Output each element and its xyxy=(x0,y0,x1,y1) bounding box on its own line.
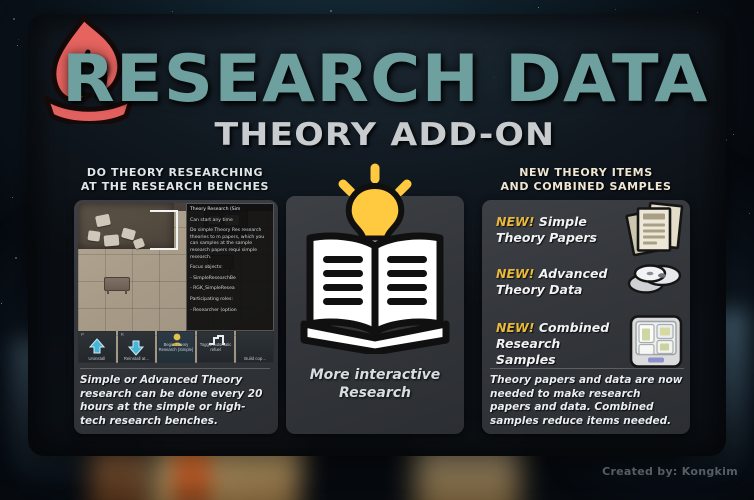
center-caption: More interactive Research xyxy=(290,366,460,402)
divider xyxy=(80,368,270,369)
list-item: NEW! Advanced Theory Data xyxy=(496,266,682,298)
tooltip-roles-label: Participating roles: xyxy=(190,297,270,304)
research-bench xyxy=(104,277,130,291)
left-caption-text: Simple or Advanced Theory research can b… xyxy=(80,374,262,427)
new-badge: NEW! xyxy=(496,266,535,281)
new-badge: NEW! xyxy=(496,320,535,335)
tooltip-focus-item-2: - RGK_SimpleResea xyxy=(190,286,270,293)
item-name-line1: Combined xyxy=(539,320,609,335)
tooltip-focus-item-1: - SimpleResearchBe xyxy=(190,276,270,283)
game-tooltip: Theory Research (Sim Can start any time … xyxy=(186,203,274,331)
toolbar-button-uninstall[interactable]: P Uninstall xyxy=(78,331,116,363)
item-name-line1: Simple xyxy=(539,214,587,229)
list-item: NEW! Simple Theory Papers xyxy=(496,214,682,246)
item-label: NEW! Simple Theory Papers xyxy=(496,214,618,246)
rubble xyxy=(104,234,120,246)
tooltip-focus-label: Focus objects: xyxy=(190,265,270,272)
game-toolbar: P Uninstall R Reinstall at... Begin Theo… xyxy=(78,331,274,363)
right-heading-line1: NEW THEORY ITEMS xyxy=(480,166,692,180)
header: RESEARCH DATA THEORY ADD-ON xyxy=(0,46,754,151)
divider xyxy=(490,368,684,369)
open-book-icon xyxy=(296,228,454,354)
tooltip-title: Theory Research (Sim xyxy=(190,207,270,214)
toolbar-button-label: Begin Theory Research (Simple) xyxy=(158,343,194,353)
page-title: RESEARCH DATA xyxy=(0,46,754,111)
toolbar-button-begin-theory-research[interactable]: Begin Theory Research (Simple) xyxy=(157,331,195,363)
tooltip-roles-item-1: - Researcher (option xyxy=(190,308,270,315)
tooltip-start-line: Can start any time xyxy=(190,218,270,225)
credit-text: Created by: Kongkim xyxy=(602,465,738,478)
hotkey-label: R xyxy=(121,332,124,337)
tooltip-body: Do simple Theory Res research theories t… xyxy=(190,228,270,261)
left-column-heading: DO THEORY RESEARCHING AT THE RESEARCH BE… xyxy=(72,166,278,194)
center-caption-line1: More interactive xyxy=(290,366,460,384)
item-name-line2: Theory Data xyxy=(496,282,582,297)
right-caption: Theory papers and data are now needed to… xyxy=(490,368,684,428)
paper-stack-icon xyxy=(624,199,686,262)
left-caption: Simple or Advanced Theory research can b… xyxy=(80,368,270,428)
toolbar-button-toggle-refuel[interactable]: Toggle automatic refuel xyxy=(197,331,235,363)
right-column-heading: NEW THEORY ITEMS AND COMBINED SAMPLES xyxy=(480,166,692,194)
disc-stack-icon xyxy=(624,258,686,307)
item-label: NEW! Combined Research Samples xyxy=(496,320,618,368)
hotkey-label: P xyxy=(81,332,84,337)
left-heading-line1: DO THEORY RESEARCHING xyxy=(72,166,278,180)
item-label: NEW! Advanced Theory Data xyxy=(496,266,618,298)
right-caption-text: Theory papers and data are now needed to… xyxy=(490,374,683,427)
toolbar-button-label: Reinstall at... xyxy=(119,356,155,362)
center-caption-line2: Research xyxy=(290,384,460,402)
rubble xyxy=(87,230,100,242)
arrow-down-icon xyxy=(126,337,146,357)
toolbar-button-build-copy[interactable]: Build cop... xyxy=(236,331,274,363)
item-name-line2: Research Samples xyxy=(496,336,560,367)
toolbar-button-reinstall[interactable]: R Reinstall at... xyxy=(118,331,156,363)
page-subtitle: THEORY ADD-ON xyxy=(0,120,754,151)
list-item: NEW! Combined Research Samples xyxy=(496,320,682,368)
left-heading-line2: AT THE RESEARCH BENCHES xyxy=(72,180,278,194)
item-name-line1: Advanced xyxy=(539,266,608,281)
new-badge: NEW! xyxy=(496,214,535,229)
right-heading-line2: AND COMBINED SAMPLES xyxy=(480,180,692,194)
toolbar-button-label: Toggle automatic refuel xyxy=(198,343,234,353)
toolbar-button-label: Uninstall xyxy=(79,356,115,362)
sample-tray-icon xyxy=(626,313,686,376)
arrow-up-icon xyxy=(87,337,107,357)
toolbar-button-label: Build cop... xyxy=(237,356,273,362)
item-name-line2: Theory Papers xyxy=(496,230,597,245)
